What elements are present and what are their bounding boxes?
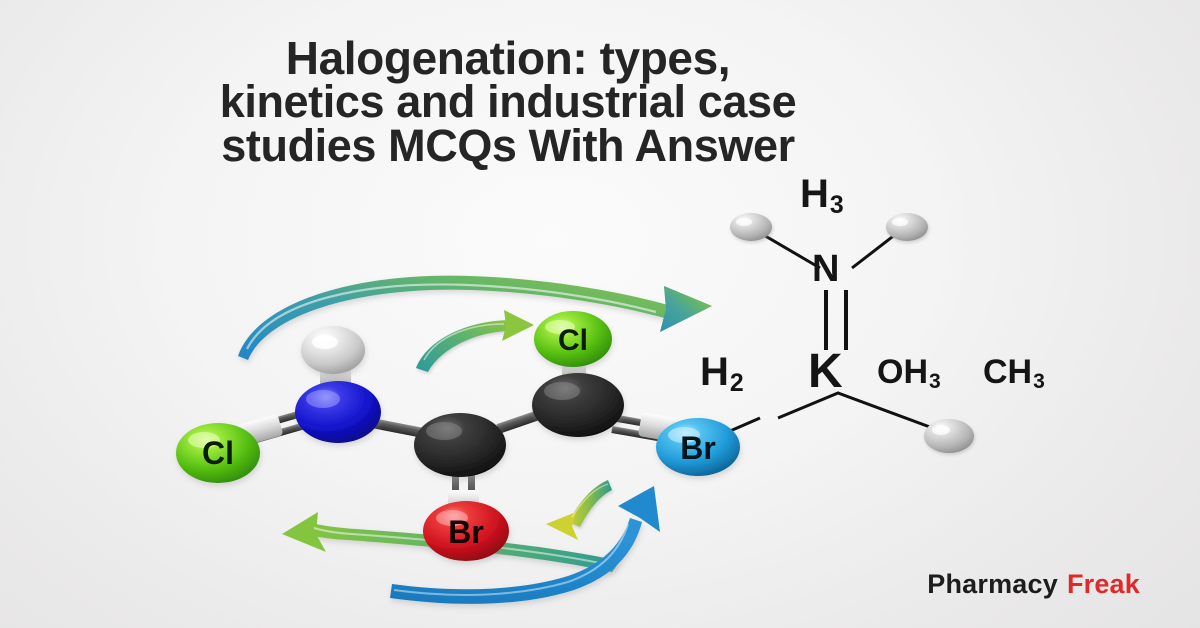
atom-h-n-left: [730, 213, 772, 241]
label-k: K: [808, 348, 843, 396]
label-h2: H2: [700, 352, 744, 392]
label-n: N: [812, 250, 839, 288]
atom-br-right: Br: [656, 418, 740, 476]
label-ch3-text: CH: [983, 353, 1032, 391]
svg-text:Cl: Cl: [202, 435, 234, 471]
svg-text:Br: Br: [448, 514, 484, 550]
arrow-bottom-small: [546, 480, 612, 540]
svg-text:Cl: Cl: [558, 324, 588, 357]
label-oh3-sub: 3: [929, 370, 941, 393]
label-h3: H3: [800, 174, 844, 214]
label-ch3-sub: 3: [1033, 370, 1045, 393]
atom-c-left: [414, 413, 506, 477]
page-title: Halogenation: types, kinetics and indust…: [28, 36, 988, 168]
label-ch3: CH3: [983, 355, 1045, 389]
title-line-3: studies MCQs With Answer: [28, 124, 988, 168]
label-h3-text: H: [800, 172, 829, 216]
label-h2-text: H: [700, 350, 729, 394]
atom-h-top: [301, 326, 365, 374]
brand-word-pharmacy: Pharmacy: [927, 569, 1058, 599]
atom-c-right: [532, 373, 624, 437]
label-oh3-text: OH: [877, 353, 928, 391]
label-oh3: OH3: [877, 355, 941, 389]
title-line-1: Halogenation: types,: [28, 36, 988, 80]
atom-n-center: [295, 381, 381, 443]
brand-logo: PharmacyFreak: [927, 569, 1140, 600]
label-h2-sub: 2: [730, 370, 744, 397]
atom-h-n-right: [886, 213, 928, 241]
banner-root: Cl Br: [0, 0, 1200, 628]
atom-br-bottom: Br: [423, 501, 509, 561]
brand-word-freak: Freak: [1067, 569, 1140, 599]
atom-cl-left: Cl: [176, 423, 260, 483]
atom-cl-top: Cl: [534, 311, 612, 367]
arrow-top-small: [416, 310, 534, 372]
label-h3-sub: 3: [830, 192, 844, 219]
svg-text:Br: Br: [680, 430, 716, 466]
atom-h-k-right: [924, 419, 974, 453]
title-line-2: kinetics and industrial case: [28, 80, 988, 124]
